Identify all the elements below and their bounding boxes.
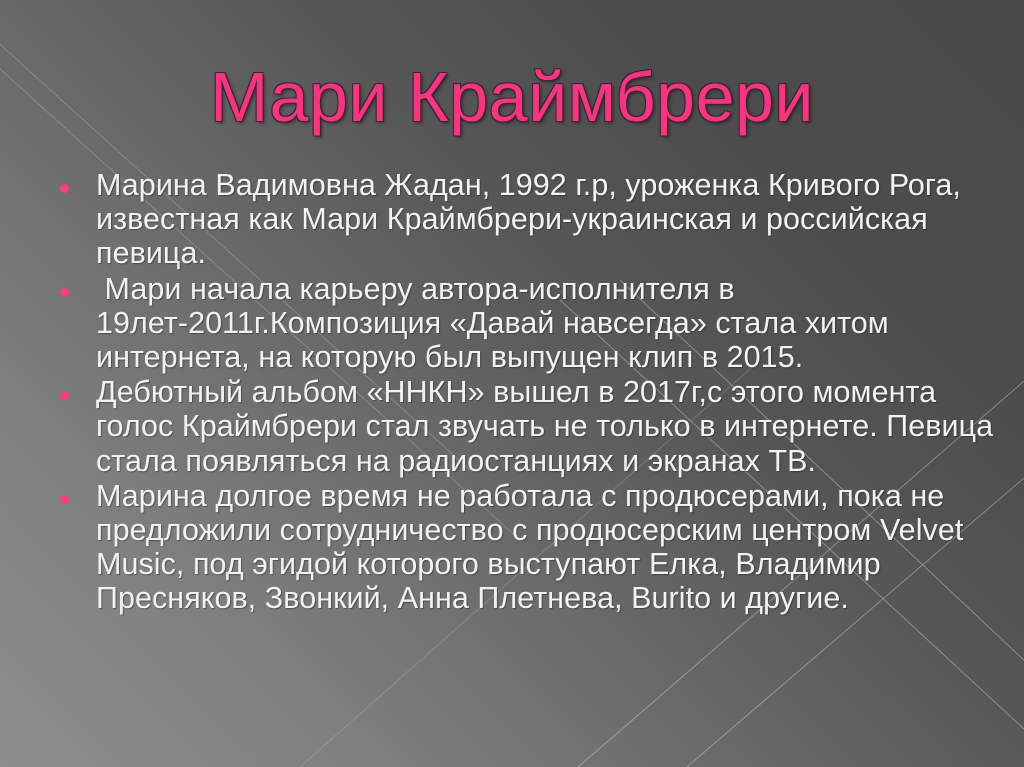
bullet-text: Мари начала карьеру автора-исполнителя в…	[96, 272, 998, 375]
donut-bullet-icon	[46, 486, 96, 520]
list-item: Мари начала карьеру автора-исполнителя в…	[46, 272, 998, 375]
donut-bullet-icon	[46, 382, 96, 416]
slide-body-placeholder: Марина Вадимовна Жадан, 1992 г.р, урожен…	[46, 168, 998, 617]
bullet-text: Марина Вадимовна Жадан, 1992 г.р, урожен…	[96, 168, 998, 271]
donut-bullet-icon	[46, 279, 96, 313]
list-item: Дебютный альбом «ННКН» вышел в 2017г,с э…	[46, 375, 998, 478]
slide-title: Мари Краймбрери	[0, 62, 1024, 132]
presentation-slide: Мари Краймбрери Марина Вадимовна Жадан, …	[0, 0, 1024, 767]
list-item: Марина долгое время не работала с продюс…	[46, 479, 998, 616]
bullet-text: Дебютный альбом «ННКН» вышел в 2017г,с э…	[96, 375, 998, 478]
list-item: Марина Вадимовна Жадан, 1992 г.р, урожен…	[46, 168, 998, 271]
bullet-text: Марина долгое время не работала с продюс…	[96, 479, 998, 616]
donut-bullet-icon	[46, 175, 96, 209]
